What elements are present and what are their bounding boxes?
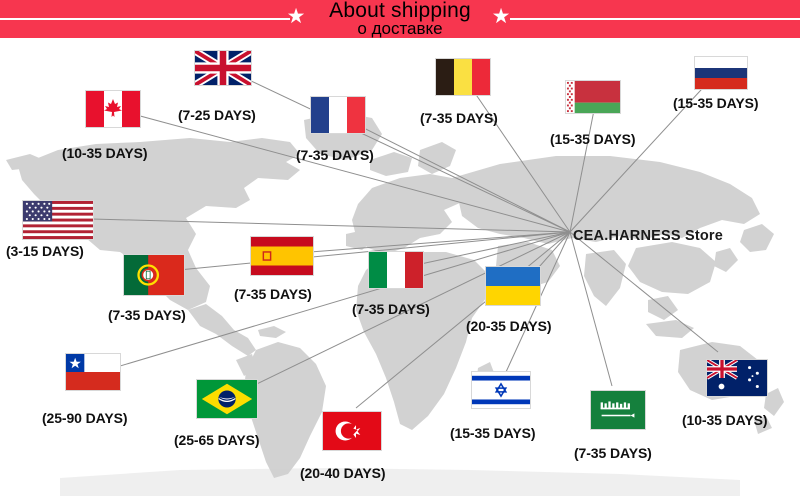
flag-chile xyxy=(65,353,121,391)
flag-spain xyxy=(250,236,314,276)
label-france: (7-35 DAYS) xyxy=(296,147,374,163)
flag-france xyxy=(310,96,366,134)
flag-italy xyxy=(368,251,424,289)
flag-ukraine xyxy=(485,266,541,306)
label-saudi-arabia: (7-35 DAYS) xyxy=(574,445,652,461)
label-italy: (7-35 DAYS) xyxy=(352,301,430,317)
flag-belarus xyxy=(565,80,621,114)
maple-leaf-icon xyxy=(103,98,123,120)
flag-canada xyxy=(85,90,141,128)
label-belarus: (15-35 DAYS) xyxy=(550,131,635,147)
label-australia: (10-35 DAYS) xyxy=(682,412,767,428)
label-turkey: (20-40 DAYS) xyxy=(300,465,385,481)
route-line-france xyxy=(340,116,570,232)
label-belgium: (7-35 DAYS) xyxy=(420,110,498,126)
route-line-belarus xyxy=(570,100,596,232)
label-ukraine: (20-35 DAYS) xyxy=(466,318,551,334)
route-line-spain xyxy=(284,232,570,254)
flag-turkey xyxy=(322,411,382,451)
flag-australia xyxy=(706,359,768,397)
flag-israel xyxy=(471,371,531,409)
route-line-saudi-arabia xyxy=(570,232,612,386)
label-canada: (10-35 DAYS) xyxy=(62,145,147,161)
label-uk: (7-25 DAYS) xyxy=(178,107,256,123)
route-line-usa xyxy=(56,218,570,232)
route-line-belgium xyxy=(466,80,570,232)
flag-saudi-arabia xyxy=(590,390,646,430)
label-portugal: (7-35 DAYS) xyxy=(108,307,186,323)
flag-brazil xyxy=(196,379,258,419)
flag-uk xyxy=(194,50,252,86)
flag-belgium xyxy=(435,58,491,96)
label-israel: (15-35 DAYS) xyxy=(450,425,535,441)
flag-portugal xyxy=(123,254,185,296)
route-line-australia xyxy=(570,232,718,352)
label-brazil: (25-65 DAYS) xyxy=(174,432,259,448)
label-chile: (25-90 DAYS) xyxy=(42,410,127,426)
shipping-infographic: ★ ★ About shipping о доставке xyxy=(0,0,800,496)
flag-usa xyxy=(22,200,94,240)
label-spain: (7-35 DAYS) xyxy=(234,286,312,302)
route-line-uk xyxy=(228,70,570,232)
label-usa: (3-15 DAYS) xyxy=(6,243,84,259)
store-name-label: CEA.HARNESS Store xyxy=(573,228,723,244)
route-line-italy xyxy=(402,232,570,268)
label-russia: (15-35 DAYS) xyxy=(673,95,758,111)
flag-russia xyxy=(694,56,748,90)
